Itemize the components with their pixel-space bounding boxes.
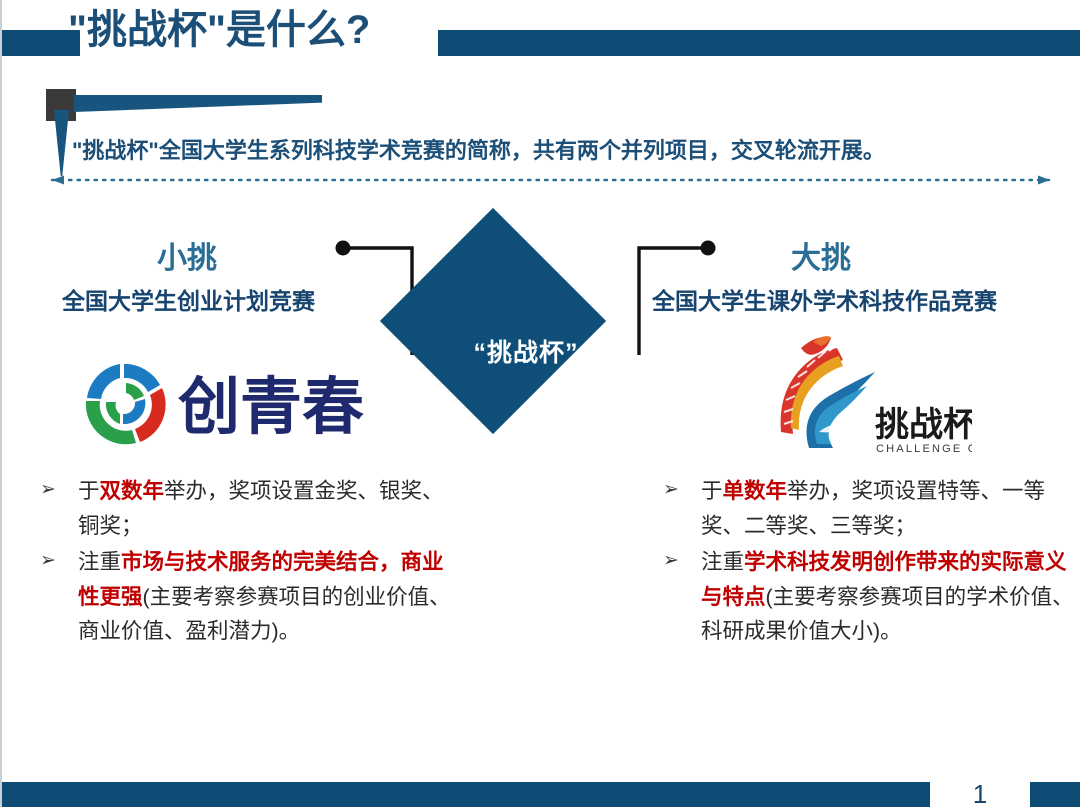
bullet-arrow-icon: ➢ — [663, 544, 679, 579]
right-column-title: 大挑 — [791, 233, 851, 277]
list-item: ➢ 注重学术科技发明创作带来的实际意义与特点(主要考察参赛项目的学术价值、科研成… — [657, 545, 1077, 649]
dotted-divider-line — [42, 175, 1060, 185]
list-item: ➢ 注重市场与技术服务的完美结合，商业性更强(主要考察参赛项目的创业价值、商业价… — [34, 545, 454, 649]
header-accent-bar-right — [438, 30, 1080, 56]
right-bullet-list: ➢ 于单数年举办，奖项设置特等、一等奖、二等奖、三等奖； ➢ 注重学术科技发明创… — [657, 474, 1077, 651]
right-column-subtitle: 全国大学生课外学术科技作品竞赛 — [652, 282, 997, 316]
challenge-cup-logo: 挑战杯 CHALLENGE CUP — [757, 332, 972, 458]
decoration-vertical-wedge-icon — [54, 110, 69, 176]
list-item: ➢ 于单数年举办，奖项设置特等、一等奖、二等奖、三等奖； — [657, 474, 1077, 543]
chuang-qing-chun-wordmark: 创青春 — [178, 373, 364, 442]
bullet-arrow-icon: ➢ — [40, 544, 56, 579]
decoration-horizontal-wedge-icon — [74, 95, 322, 112]
bullet-text-0: 于双数年举办，奖项设置金奖、银奖、铜奖； — [78, 479, 444, 538]
bullet-text-0: 于单数年举办，奖项设置特等、一等奖、二等奖、三等奖； — [701, 479, 1045, 538]
center-diamond-label: “挑战杯” — [413, 333, 639, 369]
chuang-qing-chun-logo: 创青春 — [74, 352, 364, 456]
left-column-subtitle: 全国大学生创业计划竞赛 — [62, 282, 315, 316]
list-item: ➢ 于双数年举办，奖项设置金奖、银奖、铜奖； — [34, 474, 454, 543]
footer-bar — [2, 782, 930, 807]
bullet-arrow-icon: ➢ — [663, 473, 679, 508]
page-number: 1 — [930, 779, 1030, 807]
left-bullet-list: ➢ 于双数年举办，奖项设置金奖、银奖、铜奖； ➢ 注重市场与技术服务的完美结合，… — [34, 474, 454, 651]
slide-canvas: "挑战杯"是什么? "挑战杯"全国大学生系列科技学术竞赛的简称，共有两个并列项目… — [0, 0, 1080, 807]
center-diamond — [380, 208, 606, 434]
footer-bar-right-accent — [1030, 782, 1080, 807]
bullet-text-1: 注重学术科技发明创作带来的实际意义与特点(主要考察参赛项目的学术价值、科研成果价… — [701, 550, 1074, 643]
subtitle-text: "挑战杯"全国大学生系列科技学术竞赛的简称，共有两个并列项目，交叉轮流开展。 — [72, 133, 885, 165]
challenge-cup-tagline: CHALLENGE CUP — [876, 443, 972, 455]
bullet-text-1: 注重市场与技术服务的完美结合，商业性更强(主要考察参赛项目的创业价值、商业价值、… — [78, 550, 451, 643]
connector-dot-right — [701, 241, 716, 256]
connector-dot-left — [336, 241, 351, 256]
challenge-cup-wordmark: 挑战杯 — [875, 406, 972, 444]
left-column-title: 小挑 — [157, 233, 217, 277]
page-title: "挑战杯"是什么? — [68, 10, 370, 50]
bullet-arrow-icon: ➢ — [40, 473, 56, 508]
